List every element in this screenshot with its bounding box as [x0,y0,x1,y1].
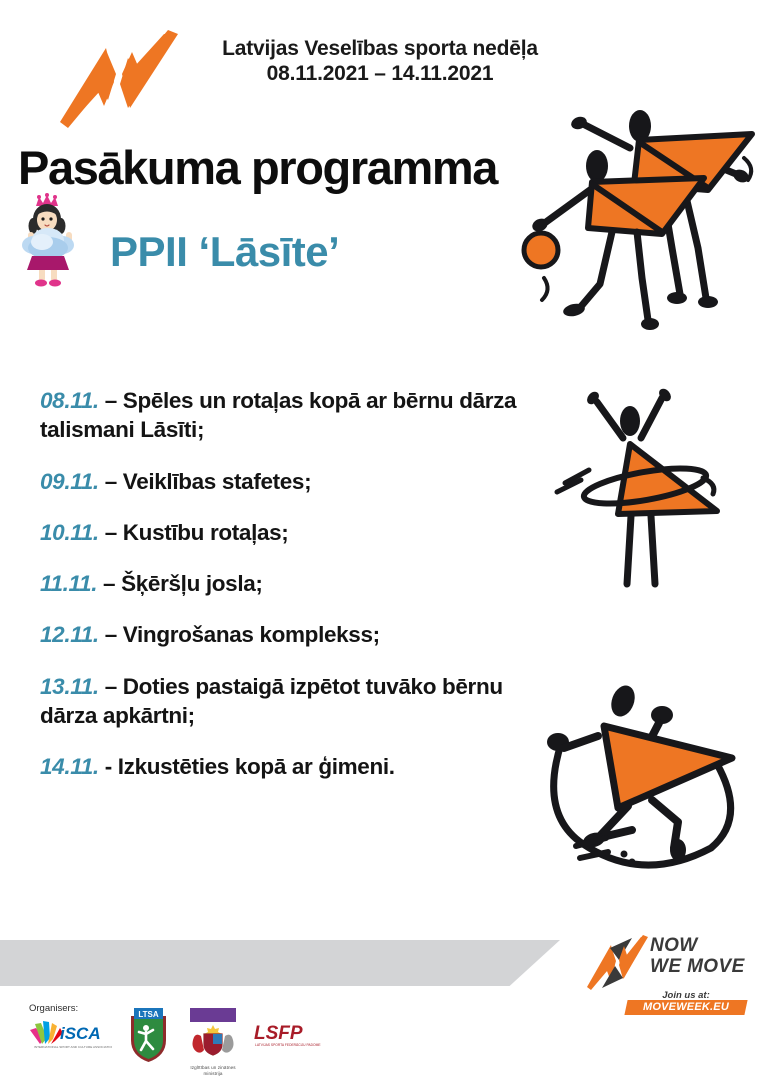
moveweek-url-text: MOVEWEEK.EU [626,1000,746,1015]
izm-ministry-logo: Izglītības un zinātnes ministrija [184,1008,242,1074]
svg-text:LATVIJAS SPORTA FEDERĀCIJU PAD: LATVIJAS SPORTA FEDERĀCIJU PADOME [255,1043,321,1047]
item-text: Šķēršļu josla; [121,571,262,596]
item-separator: - [105,754,112,779]
item-date: 14.11. [40,754,99,779]
header-title-block: Latvijas Veselības sporta nedēļa 08.11.2… [180,37,580,87]
isca-logo-icon: iSCA INTERNATIONAL SPORT AND CULTURE ASS… [26,1014,112,1050]
nwm-word-wemove: WE MOVE [650,957,745,978]
svg-text:iSCA: iSCA [60,1024,101,1043]
item-separator: – [103,571,115,596]
page-title: Pasākuma programma [18,140,497,195]
svg-text:INTERNATIONAL SPORT AND CULTUR: INTERNATIONAL SPORT AND CULTURE ASSOCIAT… [34,1045,112,1049]
izm-caption: Izglītības un zinātnes ministrija [184,1065,242,1077]
now-we-move-arrow-icon [586,934,648,992]
item-date: 11.11. [40,571,97,596]
moveweek-url-badge[interactable]: MOVEWEEK.EU [624,1000,747,1015]
now-we-move-wordmark: NOW WE MOVE [650,936,745,977]
ltsa-logo-icon: LTSA [126,1006,171,1064]
item-separator: – [105,388,117,413]
event-name: Latvijas Veselības sporta nedēļa [180,37,580,62]
item-separator: – [105,469,117,494]
dancing-couple-with-ball-figure-icon [512,98,768,338]
item-date: 08.11. [40,388,99,413]
item-separator: – [105,622,117,647]
list-item: 10.11. – Kustību rotaļas; [40,518,518,547]
poster-canvas: Latvijas Veselības sporta nedēļa 08.11.2… [0,0,768,1086]
list-item: 09.11. – Veiklības stafetes; [40,467,518,496]
list-item: 08.11. – Spēles un rotaļas kopā ar bērnu… [40,386,518,445]
event-dates: 08.11.2021 – 14.11.2021 [180,62,580,87]
list-item: 12.11. – Vingrošanas komplekss; [40,620,518,649]
lasite-girl-mascot-icon [12,190,88,288]
hula-hoop-figure-icon [545,388,745,588]
program-list: 08.11. – Spēles un rotaļas kopā ar bērnu… [40,386,518,803]
item-text: Izkustēties kopā ar ģimeni. [118,754,395,779]
jump-rope-figure-icon [528,678,760,910]
list-item: 14.11. - Izkustēties kopā ar ģimeni. [40,752,518,781]
organisers-label: Organisers: [29,1003,78,1014]
now-we-move-arrow-icon [58,28,178,130]
item-date: 12.11. [40,622,99,647]
item-separator: – [105,674,117,699]
latvia-coat-of-arms-icon [184,1008,242,1060]
svg-text:LSFP: LSFP [254,1023,303,1044]
nwm-word-now: NOW [650,936,745,957]
svg-text:LTSA: LTSA [138,1010,159,1019]
footer-grey-band [0,940,560,986]
item-date: 10.11. [40,520,99,545]
list-item: 11.11. – Šķēršļu josla; [40,569,518,598]
item-text: Vingrošanas komplekss; [123,622,380,647]
item-date: 09.11. [40,469,99,494]
item-text: Veiklības stafetes; [123,469,311,494]
item-separator: – [105,520,117,545]
now-we-move-logo: NOW WE MOVE Join us at: MOVEWEEK.EU [586,934,762,1016]
lsfp-logo-icon: LSFP LATVIJAS SPORTA FEDERĀCIJU PADOME [252,1020,332,1050]
list-item: 13.11. – Doties pastaigā izpētot tuvāko … [40,672,518,731]
item-date: 13.11. [40,674,99,699]
item-text: Kustību rotaļas; [123,520,289,545]
kindergarten-name: PPII ‘Lāsīte’ [110,228,339,276]
